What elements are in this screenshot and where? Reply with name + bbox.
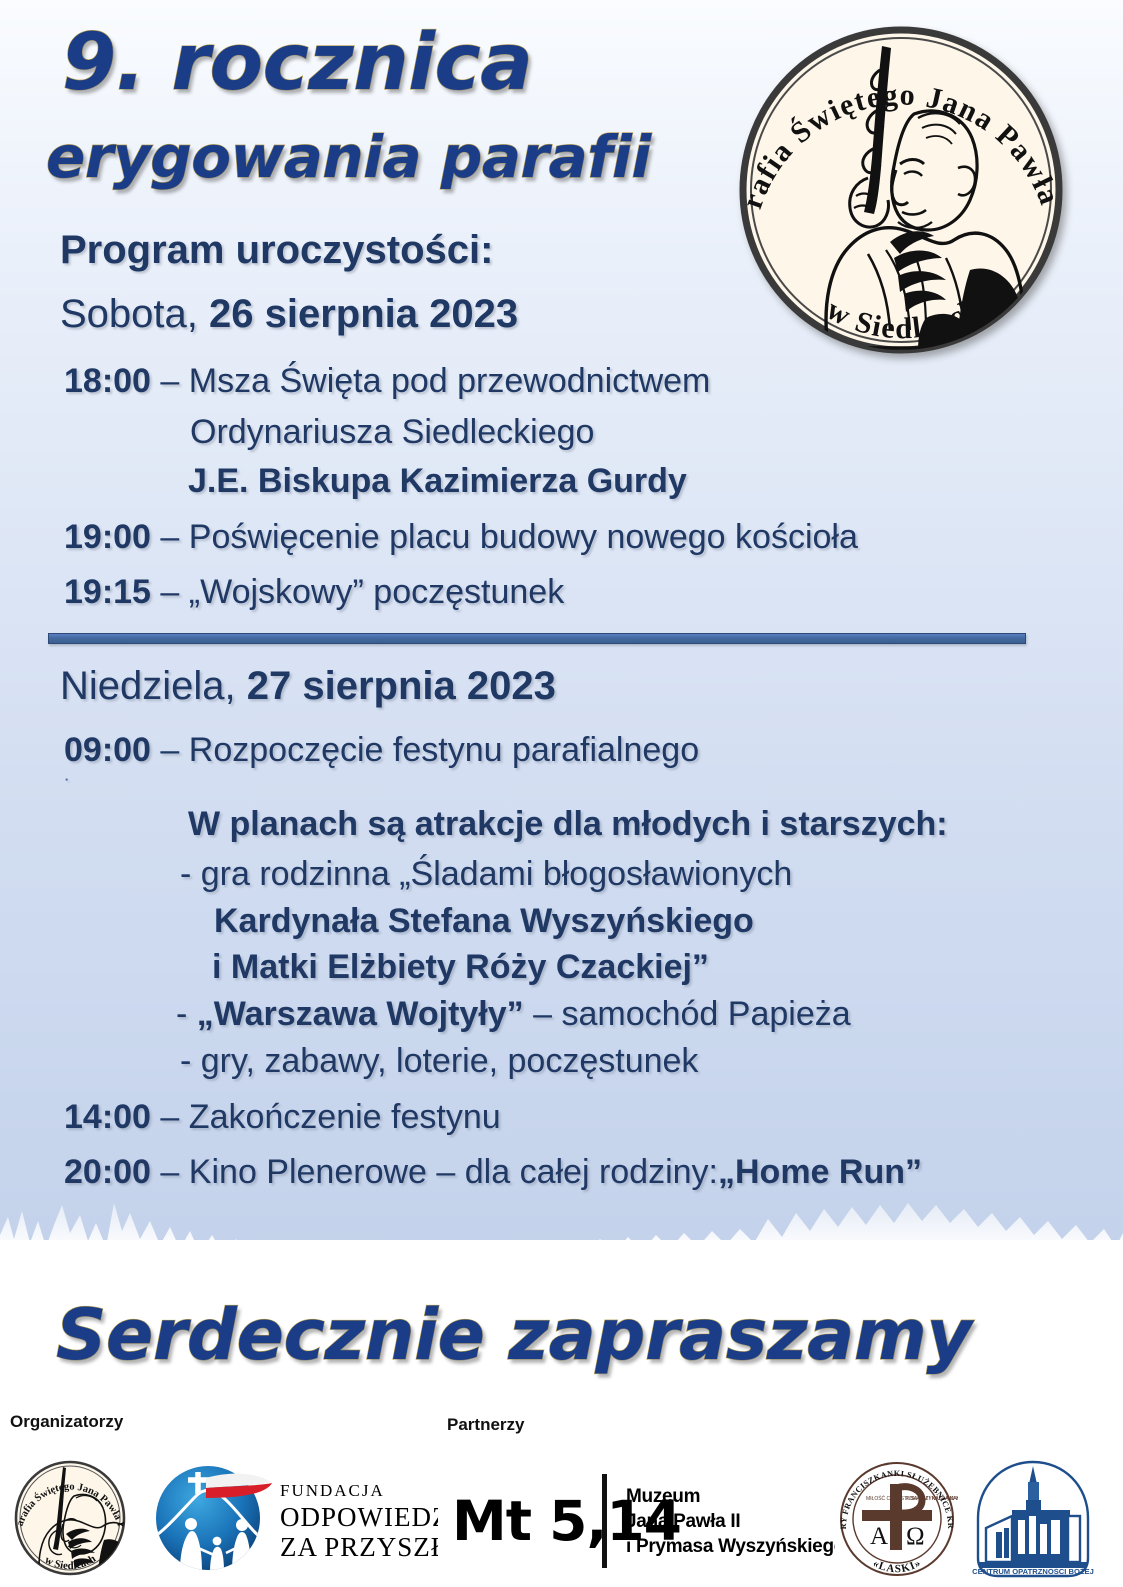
attraction-item-continuation: Kardynała Stefana Wyszyńskiego [214, 902, 754, 941]
torn-paper-edge [0, 1195, 1123, 1305]
attraction-item: - „Warszawa Wojtyły” – samochód Papieża [176, 995, 851, 1034]
divider-rule [602, 1474, 607, 1568]
schedule-description: Rozpoczęcie festynu parafialnego [189, 731, 699, 770]
schedule-row: 09:00 – Rozpoczęcie festynu parafialnego [64, 731, 699, 770]
saturday-date-line: Sobota, 26 sierpnia 2023 [60, 292, 518, 337]
schedule-continuation: Ordynariusza Siedleckiego [190, 413, 594, 452]
closing-invitation: Serdecznie zapraszamy [56, 1300, 971, 1370]
page-title-line1: 9. rocznica [62, 24, 532, 102]
schedule-row: 19:00 – Poświęcenie placu budowy nowego … [64, 518, 858, 557]
footer-logo-fundacja: FUNDACJA ODPOWIEDZIALNI ZA PRZYSZŁOŚĆ [148, 1456, 438, 1578]
attractions-heading: W planach są atrakcje dla młodych i star… [188, 805, 948, 844]
footer-logo-laski: A Ω MIŁOŚĆ CHRYSTUSA PRZYNAGLA NAS POKAR… [836, 1458, 958, 1580]
schedule-continuation-bold: J.E. Biskupa Kazimierza Gurdy [188, 462, 687, 501]
footer-logo-muzeum: Mt 5,14 Muzeum Jana Pawła II i Prymasa W… [450, 1468, 835, 1572]
fundacja-line1: FUNDACJA [280, 1481, 385, 1500]
footer-logo-parafia: Parafia Świętego Jana Pawła II w Siedlca… [8, 1454, 132, 1582]
saturday-day-label: Sobota, [60, 292, 198, 336]
alpha-glyph: A [870, 1523, 888, 1550]
schedule-description: „Wojskowy” poczęstunek [189, 573, 564, 612]
poster-root: 9. rocznica erygowania parafii [0, 0, 1123, 1587]
schedule-dash: – [160, 362, 179, 401]
schedule-time: 14:00 [64, 1098, 151, 1137]
schedule-dash: – [160, 573, 179, 612]
footer-logo-centrum: CENTRUM OPATRZNOŚCI BOŻEJ [972, 1458, 1094, 1580]
fundacja-line2: ODPOWIEDZIALNI [280, 1502, 438, 1532]
organizers-label: Organizatorzy [10, 1412, 123, 1432]
sunday-date-value: 27 sierpnia 2023 [247, 664, 556, 708]
parish-seal-logo: Parafia Świętego Jana Pawła II w Siedlca… [718, 18, 1084, 362]
schedule-row: 19:15 – „Wojskowy” poczęstunek [64, 573, 564, 612]
muzeum-line1: Muzeum [626, 1486, 700, 1507]
schedule-description: Kino Plenerowe – dla całej rodziny: [189, 1153, 718, 1192]
fundacja-line3: ZA PRZYSZŁOŚĆ [280, 1532, 438, 1562]
schedule-film-title: „Home Run” [718, 1153, 922, 1192]
sunday-day-label: Niedziela, [60, 664, 236, 708]
sunday-date-line: Niedziela, 27 sierpnia 2023 [60, 664, 556, 709]
schedule-time: 20:00 [64, 1153, 151, 1192]
omega-glyph: Ω [906, 1523, 925, 1550]
laski-inner-right: POKARM I KAŻDĄ W KRZYŻU [906, 1495, 958, 1502]
centrum-caption: CENTRUM OPATRZNOŚCI BOŻEJ [972, 1567, 1094, 1576]
saturday-date-value: 26 sierpnia 2023 [209, 292, 518, 336]
schedule-time: 19:15 [64, 573, 151, 612]
muzeum-line3: i Prymasa Wyszyńskiego [626, 1536, 835, 1557]
schedule-description: Zakończenie festynu [189, 1098, 501, 1137]
attraction-prefix: - [176, 995, 197, 1033]
schedule-row: 18:00 – Msza Święta pod przewodnictwem [64, 362, 710, 401]
attraction-title: „Warszawa Wojtyły” [197, 995, 524, 1033]
attraction-suffix: – samochód Papieża [524, 995, 851, 1033]
program-heading: Program uroczystości: [60, 228, 493, 273]
muzeum-line2: Jana Pawła II [626, 1511, 740, 1532]
schedule-time: 19:00 [64, 518, 151, 557]
attraction-item: - gry, zabawy, loterie, poczęstunek [180, 1042, 698, 1081]
schedule-dash: – [160, 731, 179, 770]
schedule-row: 14:00 – Zakończenie festynu [64, 1098, 501, 1137]
schedule-time: 18:00 [64, 362, 151, 401]
schedule-row: 20:00 – Kino Plenerowe – dla całej rodzi… [64, 1153, 922, 1192]
schedule-dash: – [160, 1153, 179, 1192]
schedule-dash: – [160, 1098, 179, 1137]
schedule-dash: – [160, 518, 179, 557]
schedule-description: Msza Święta pod przewodnictwem [189, 362, 711, 401]
schedule-time: 09:00 [64, 731, 151, 770]
stray-punctuation-mark: ˙ [64, 775, 71, 801]
attraction-item: - gra rodzinna „Śladami błogosławionych [180, 855, 792, 894]
page-title-line2: erygowania parafii [46, 128, 651, 186]
schedule-description: Poświęcenie placu budowy nowego kościoła [189, 518, 858, 557]
footer-logo-row: Parafia Świętego Jana Pawła II w Siedlca… [0, 1440, 1123, 1587]
section-divider [48, 633, 1026, 644]
attraction-item-continuation: i Matki Elżbiety Róży Czackiej” [212, 948, 709, 987]
partners-label: Partnerzy [447, 1415, 524, 1435]
